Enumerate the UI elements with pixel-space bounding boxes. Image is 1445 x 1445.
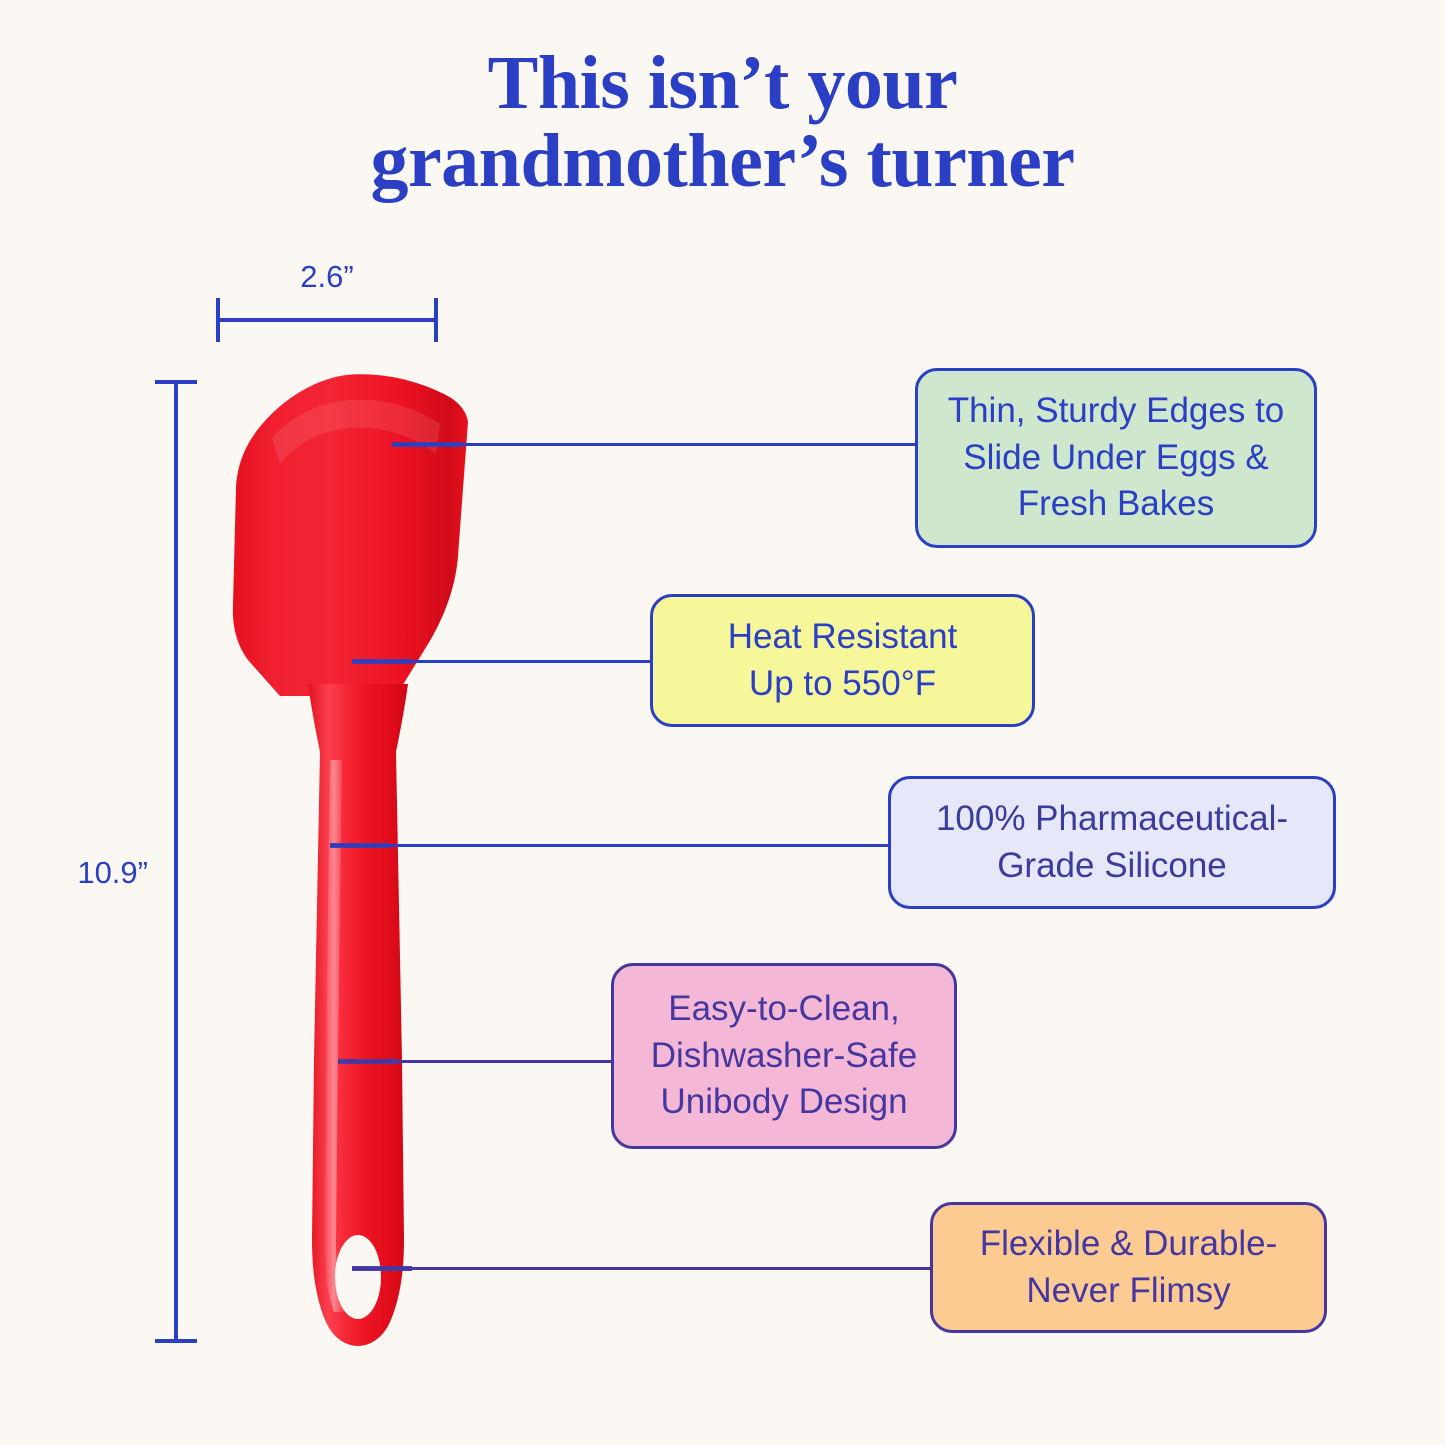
leader-line-2 bbox=[352, 660, 652, 663]
width-dimension-label: 2.6” bbox=[216, 259, 438, 295]
width-dimension-line bbox=[216, 318, 438, 322]
callout-easy-to-clean[interactable]: Easy-to-Clean, Dishwasher-Safe Unibody D… bbox=[611, 963, 957, 1149]
leader-line-4 bbox=[338, 1060, 613, 1063]
callout-text: Thin, Sturdy Edges to Slide Under Eggs &… bbox=[948, 388, 1285, 528]
height-dimension-line bbox=[174, 380, 178, 1343]
callout-pharmaceutical-grade-silicone[interactable]: 100% Pharmaceutical- Grade Silicone bbox=[888, 776, 1336, 909]
callout-flexible-durable[interactable]: Flexible & Durable- Never Flimsy bbox=[930, 1202, 1327, 1333]
callout-text: Easy-to-Clean, Dishwasher-Safe Unibody D… bbox=[651, 986, 918, 1126]
leader-line-5 bbox=[352, 1267, 932, 1270]
callout-text: 100% Pharmaceutical- Grade Silicone bbox=[936, 796, 1288, 889]
callout-heat-resistant[interactable]: Heat Resistant Up to 550°F bbox=[650, 594, 1035, 727]
callout-thin-sturdy-edges[interactable]: Thin, Sturdy Edges to Slide Under Eggs &… bbox=[915, 368, 1317, 548]
page-title: This isn’t your grandmother’s turner bbox=[0, 44, 1445, 201]
leader-line-3 bbox=[330, 844, 890, 847]
infographic-canvas: This isn’t your grandmother’s turner 2.6… bbox=[0, 0, 1445, 1445]
callout-text: Flexible & Durable- Never Flimsy bbox=[980, 1221, 1278, 1314]
leader-line-1 bbox=[392, 443, 917, 446]
spatula-illustration bbox=[200, 360, 520, 1360]
callout-text: Heat Resistant Up to 550°F bbox=[728, 614, 958, 707]
height-dimension-label: 10.9” bbox=[28, 855, 148, 891]
hanging-hole bbox=[335, 1235, 381, 1319]
